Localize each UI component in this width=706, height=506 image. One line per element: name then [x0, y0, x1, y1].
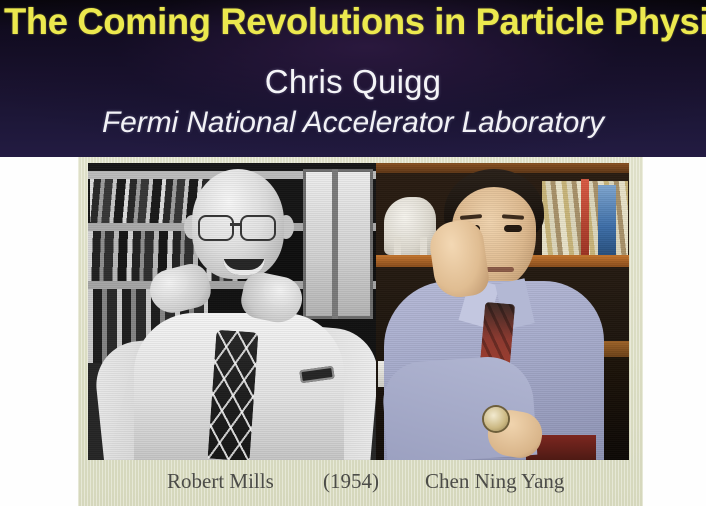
wristwatch: [484, 407, 508, 431]
presentation-slide: The Coming Revolutions in Particle Physi…: [0, 0, 706, 506]
photo-caption: Robert Mills (1954) Chen Ning Yang: [88, 466, 629, 500]
window-background: [303, 169, 373, 319]
plaid-necktie: [208, 330, 259, 460]
eyeglasses-bridge: [230, 223, 242, 226]
page-title: The Coming Revolutions in Particle Physi…: [4, 0, 694, 45]
red-book: [581, 179, 589, 255]
eyeglasses-right-lens: [240, 215, 276, 241]
window-mullion: [332, 169, 338, 319]
right-eye: [504, 225, 522, 232]
speaker-affiliation: Fermi National Accelerator Laboratory: [0, 104, 706, 142]
figurine-leg-back: [420, 237, 427, 255]
mouth: [486, 267, 514, 272]
robert-mills-photo: [88, 163, 376, 460]
blue-book: [598, 185, 616, 255]
photo-strip: [88, 163, 629, 460]
caption-right-name: Chen Ning Yang: [425, 466, 564, 496]
caption-left-name: Robert Mills: [167, 466, 274, 496]
slide-title-banner: The Coming Revolutions in Particle Physi…: [0, 0, 706, 157]
figurine-leg-front: [394, 237, 401, 255]
speaker-name: Chris Quigg: [0, 62, 706, 102]
animal-figurine: [384, 197, 436, 255]
caption-year: (1954): [323, 466, 379, 496]
chen-ning-yang-photo: [376, 163, 629, 460]
eyeglasses-left-lens: [198, 215, 234, 241]
